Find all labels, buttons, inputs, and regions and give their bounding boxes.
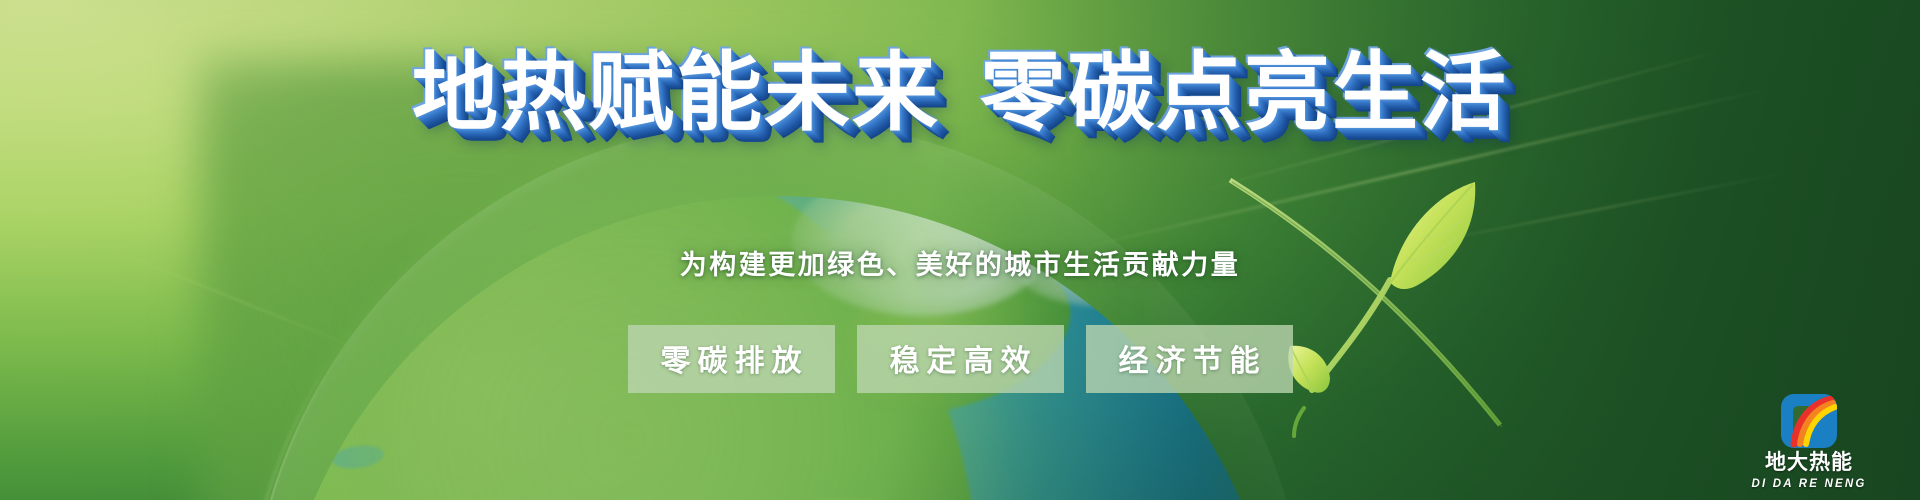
banner-subtitle: 为构建更加绿色、美好的城市生活贡献力量 (0, 243, 1920, 282)
logo-english-name: DI DA RE NENG (1734, 478, 1884, 490)
logo-chinese-name: 地大热能 (1734, 452, 1884, 473)
feature-tag-economical[interactable]: 经济节能 (1086, 325, 1293, 393)
feature-tag-stable-efficient[interactable]: 稳定高效 (857, 325, 1064, 393)
feature-tag-list: 零碳排放 稳定高效 经济节能 (0, 325, 1920, 393)
headline-part-2: 零碳点亮生活 (980, 43, 1508, 143)
feature-tag-zero-carbon[interactable]: 零碳排放 (628, 325, 835, 393)
rainbow-swoosh-icon (1781, 394, 1837, 448)
promotional-banner: 地热赋能未来零碳点亮生活 为构建更加绿色、美好的城市生活贡献力量 零碳排放 稳定… (0, 0, 1920, 500)
page-title: 地热赋能未来零碳点亮生活 (0, 48, 1920, 138)
company-logo[interactable]: 地大热能 DI DA RE NENG (1734, 394, 1884, 494)
rainbow-square-icon (1781, 394, 1837, 448)
headline-part-1: 地热赋能未来 (412, 43, 940, 143)
banner-content: 地热赋能未来零碳点亮生活 为构建更加绿色、美好的城市生活贡献力量 零碳排放 稳定… (0, 0, 1920, 500)
